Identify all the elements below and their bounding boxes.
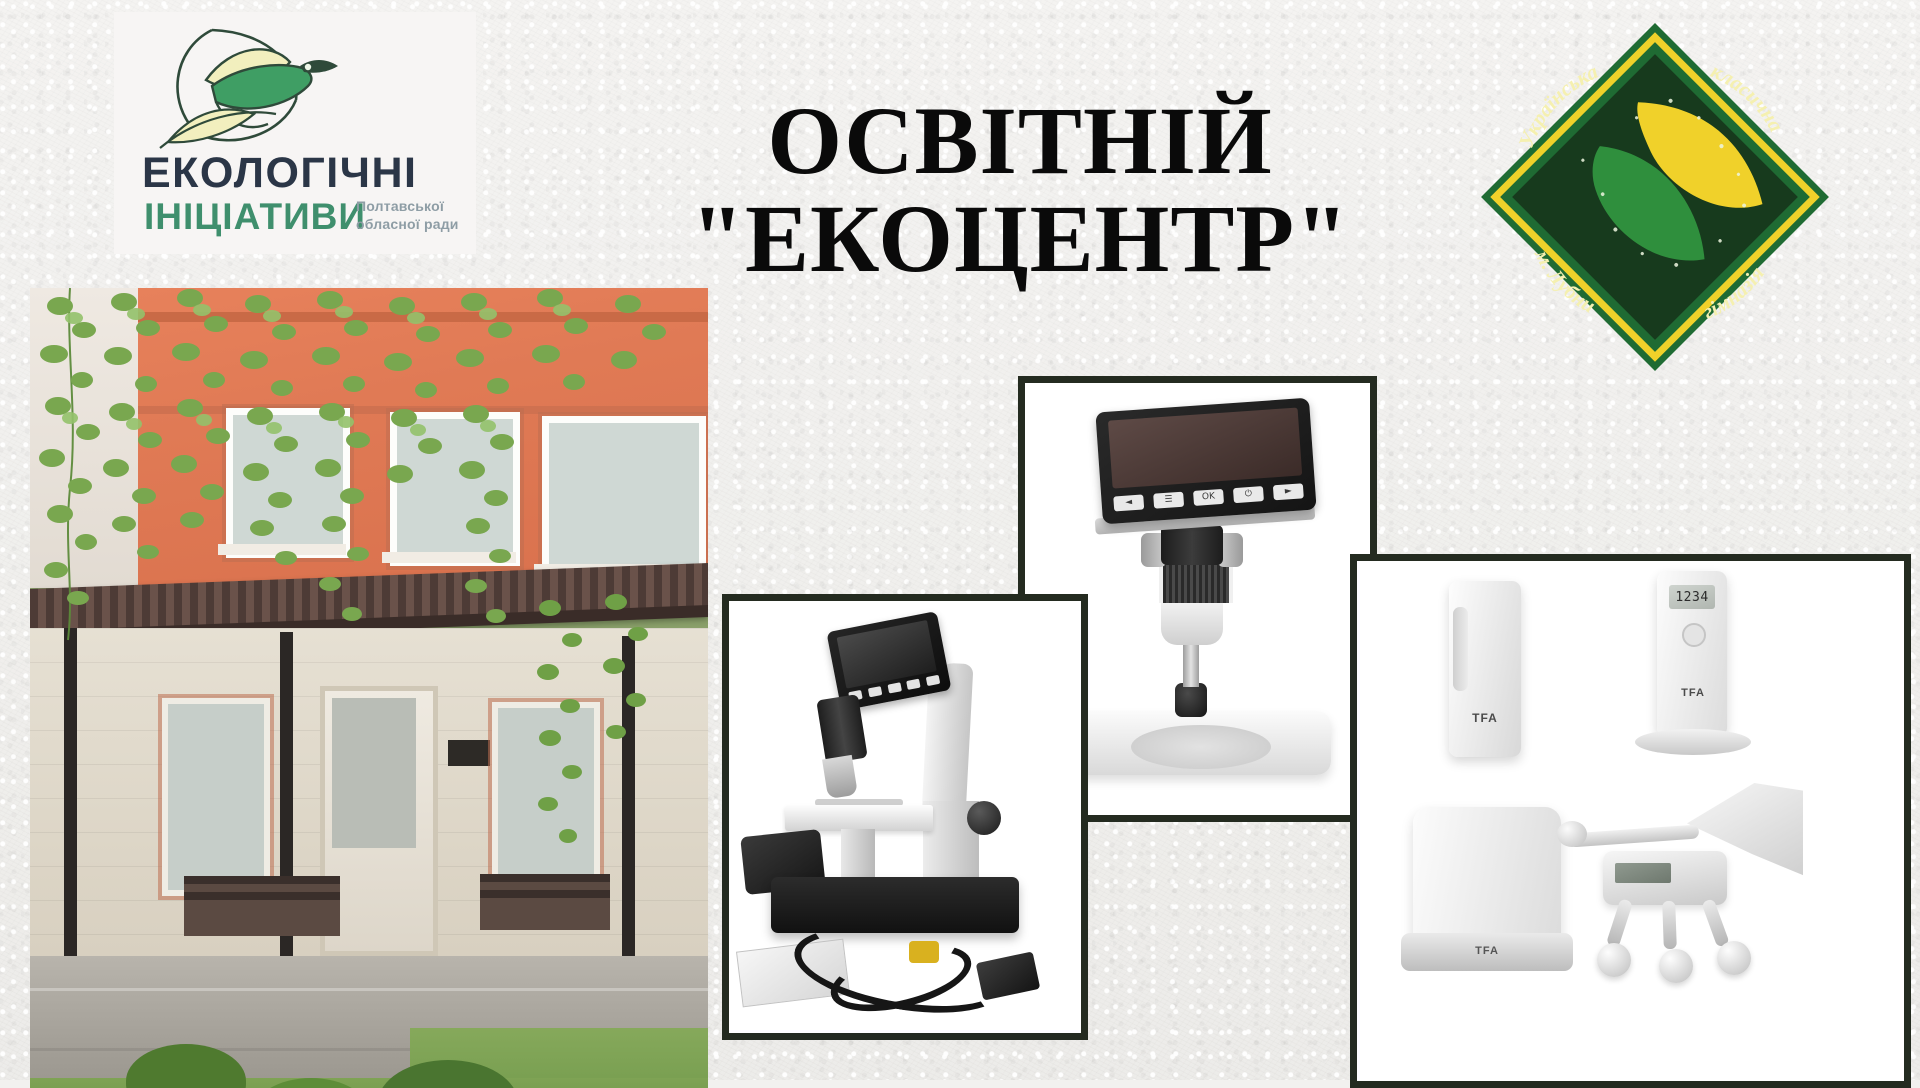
lab-microscope-kit-photo bbox=[722, 594, 1088, 1040]
wind-vane-arm bbox=[1569, 824, 1700, 847]
cable-plug bbox=[909, 941, 939, 963]
slide-canvas: ЕКОЛОГІЧНІ ІНІЦІАТИВИ Полтавської обласн… bbox=[0, 0, 1920, 1080]
page-title: ОСВІТНІЙ "ЕКОЦЕНТР" bbox=[640, 92, 1400, 288]
lab-microscope-base bbox=[771, 877, 1019, 933]
lab-microscope-button-5-icon bbox=[926, 675, 940, 686]
tfa-sensor-display: 1234 bbox=[1669, 585, 1715, 609]
microscope-screen-body: ◄ ☰ OK ⏻ ► bbox=[1095, 398, 1316, 525]
lab-microscope-stage bbox=[785, 805, 933, 831]
tfa-brand-label-small: TFA bbox=[1459, 711, 1511, 725]
microscope-barrel bbox=[1159, 561, 1233, 603]
anemometer-cup-right bbox=[1717, 941, 1751, 975]
lab-microscope-button-4-icon bbox=[906, 679, 920, 690]
anemometer-leg-right bbox=[1701, 898, 1730, 948]
microscope-button-menu-icon: ☰ bbox=[1153, 492, 1184, 509]
microscope-button-prev-icon: ◄ bbox=[1113, 494, 1144, 511]
eco-logo: ЕКОЛОГІЧНІ ІНІЦІАТИВИ Полтавської обласн… bbox=[114, 12, 476, 254]
microscope-button-next-icon: ► bbox=[1273, 483, 1304, 500]
microscope-stage-hole bbox=[1131, 725, 1271, 769]
anemometer-leg-left bbox=[1606, 898, 1633, 948]
ecocenter-building-photo bbox=[30, 288, 708, 1088]
microscope-button-power-icon: ⏻ bbox=[1233, 486, 1264, 503]
tfa-brand-label-tall: TFA bbox=[1667, 687, 1719, 699]
lab-microscope-button-3-icon bbox=[887, 682, 901, 693]
microscope-neck bbox=[1161, 525, 1223, 565]
tfa-sensor-button bbox=[1682, 623, 1706, 647]
eco-logo-word-1: ЕКОЛОГІЧНІ bbox=[142, 152, 417, 195]
anemometer-cup-middle bbox=[1659, 949, 1693, 983]
tfa-sensor-stand bbox=[1635, 729, 1751, 755]
bird-leaf-icon bbox=[150, 22, 360, 154]
anemometer-solar-panel bbox=[1615, 863, 1671, 883]
wind-vane-counterweight bbox=[1557, 821, 1587, 847]
tfa-sensor-small-slot bbox=[1453, 607, 1468, 691]
lab-microscope-objective bbox=[822, 755, 858, 799]
microscope-foot bbox=[1175, 683, 1207, 717]
microscope-button-row: ◄ ☰ OK ⏻ ► bbox=[1113, 482, 1304, 512]
tfa-brand-label-rain: TFA bbox=[1457, 945, 1517, 957]
title-line-1: ОСВІТНІЙ bbox=[767, 87, 1272, 194]
eco-logo-subtitle: Полтавської обласної ради bbox=[356, 198, 480, 233]
lab-microscope-button-2-icon bbox=[868, 686, 882, 697]
microscope-rod bbox=[1183, 643, 1199, 687]
anemometer-leg-middle bbox=[1662, 901, 1677, 949]
gymnasium-logo: Українська класична м. Лубни гімназія bbox=[1480, 22, 1830, 372]
rain-gauge-body bbox=[1413, 807, 1561, 943]
weather-station-sensors-photo: TFA 1234 TFA TFA bbox=[1350, 554, 1911, 1088]
lab-microscope-focus-knob bbox=[967, 801, 1001, 835]
microscope-display bbox=[1108, 407, 1302, 488]
microscope-lens bbox=[1161, 601, 1223, 645]
microscope-button-ok-icon: OK bbox=[1193, 489, 1224, 506]
anemometer-cup-left bbox=[1597, 943, 1631, 977]
eco-logo-word-2: ІНІЦІАТИВИ bbox=[144, 198, 366, 235]
title-line-2: "ЕКОЦЕНТР" bbox=[640, 190, 1400, 288]
